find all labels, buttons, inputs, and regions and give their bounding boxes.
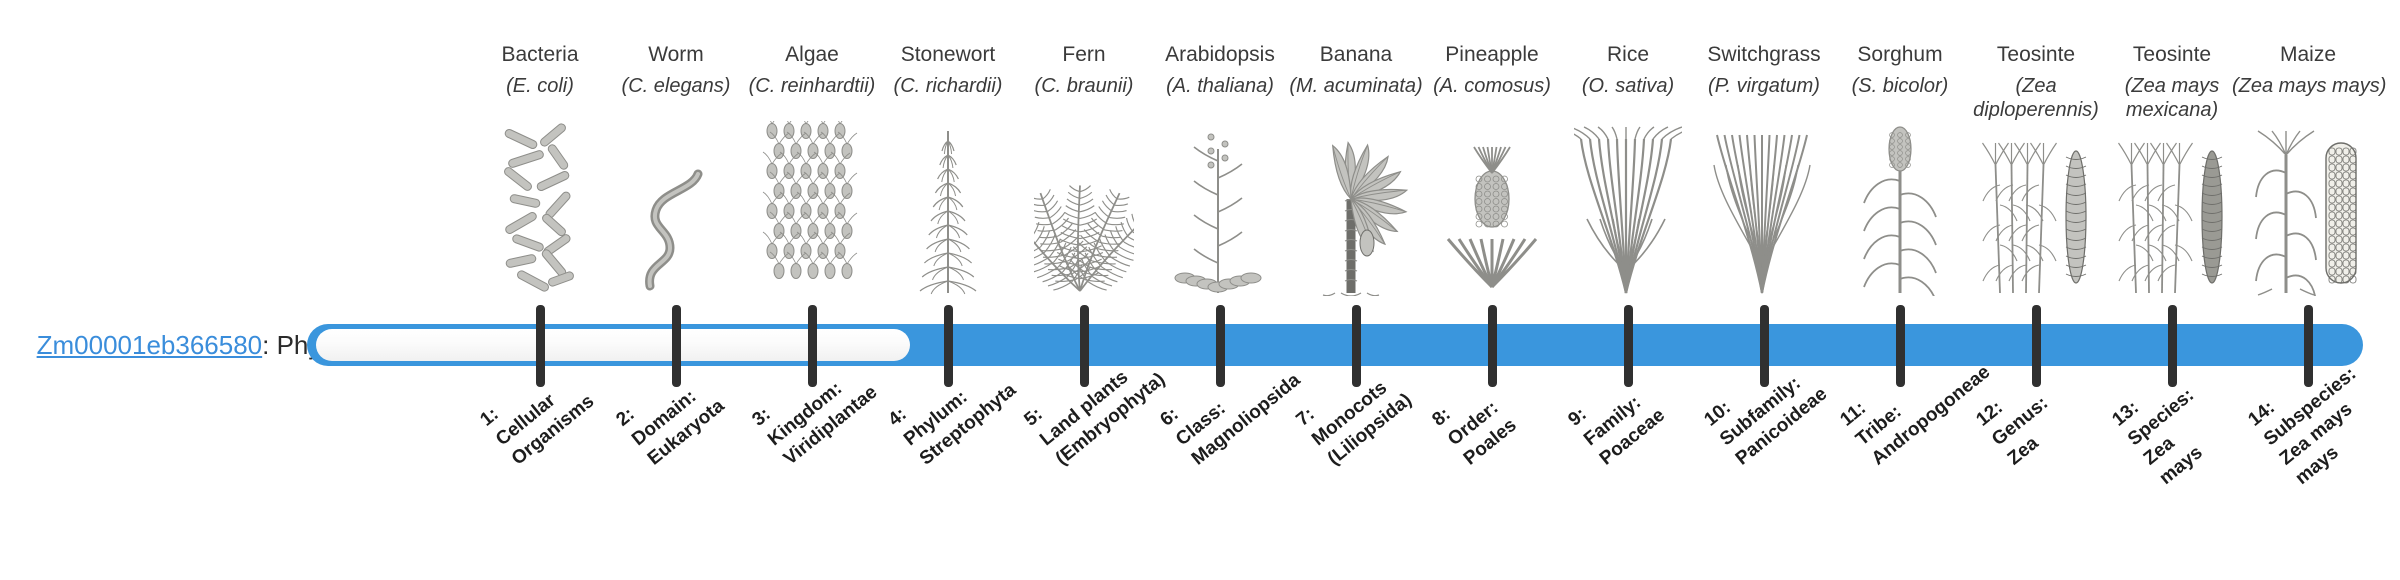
species-column-1: Bacteria(E. coli)1: Cellular Organisms: [472, 0, 608, 580]
fern-frond-illustration: [1016, 168, 1152, 296]
species-latin-name: (Zea diploperennis): [1960, 74, 2112, 122]
stonewort-alga-illustration: [880, 168, 1016, 296]
rank-label-6: 6: Class: Magnoliopsida: [1155, 327, 1308, 471]
species-column-3: Algae(C. reinhardtii)3: Kingdom: Viridip…: [744, 0, 880, 580]
rank-label-4: 4: Phylum: Streptophyta: [883, 327, 1036, 471]
species-latin-name: (M. acuminata): [1280, 74, 1432, 98]
rank-label-9: 9: Family: Poaceae: [1563, 327, 1716, 471]
rank-label-3: 3: Kingdom: Viridiplantae: [747, 327, 900, 471]
rice-plant-illustration: [1560, 168, 1696, 296]
species-latin-name: (Zea mays mexicana): [2096, 74, 2248, 122]
rank-label-12: 12: Genus: Zea: [1971, 327, 2124, 471]
arabidopsis-plant-illustration: [1152, 168, 1288, 296]
rank-label-11: 11: Tribe: Andropogoneae: [1835, 327, 1988, 471]
species-column-6: Arabidopsis(A. thaliana)6: Class: Magnol…: [1152, 0, 1288, 580]
species-latin-name: (O. sativa): [1552, 74, 1704, 98]
species-latin-name: (C. reinhardtii): [736, 74, 888, 98]
phylostratum-figure: Zm00001eb366580: Phylostratum 4 Bacteria…: [0, 0, 2400, 580]
rank-label-10: 10: Subfamily: Panicoideae: [1699, 327, 1852, 471]
sorghum-plant-illustration: [1832, 168, 1968, 296]
species-latin-name: (A. comosus): [1416, 74, 1568, 98]
species-column-2: Worm(C. elegans)2: Domain: Eukaryota: [608, 0, 744, 580]
teosinte-mexicana-illustration: [2104, 168, 2240, 296]
banana-plant-illustration: [1288, 168, 1424, 296]
species-column-12: Teosinte(Zea diploperennis)12: Genus: Ze…: [1968, 0, 2104, 580]
maize-plant-ear-illustration: [2240, 168, 2376, 296]
rank-label-8: 8: Order: Poales: [1427, 327, 1580, 471]
species-column-11: Sorghum(S. bicolor)11: Tribe: Andropogon…: [1832, 0, 1968, 580]
rank-label-2: 2: Domain: Eukaryota: [611, 327, 764, 471]
pineapple-plant-illustration: [1424, 168, 1560, 296]
bacteria-rods-illustration: [472, 168, 608, 296]
species-latin-name: (A. thaliana): [1144, 74, 1296, 98]
rank-label-5: 5: Land plants (Embryophyta): [1019, 327, 1172, 471]
rank-label-7: 7: Monocots (Liliopsida): [1291, 327, 1444, 471]
species-column-10: Switchgrass(P. virgatum)10: Subfamily: P…: [1696, 0, 1832, 580]
teosinte-diploperennis-illustration: [1968, 168, 2104, 296]
species-column-14: Maize(Zea mays mays)14: Subspecies: Zea …: [2240, 0, 2376, 580]
species-latin-name: (C. richardii): [872, 74, 1024, 98]
rank-label-1: 1: Cellular Organisms: [475, 327, 628, 471]
species-column-9: Rice(O. sativa)9: Family: Poaceae: [1560, 0, 1696, 580]
rank-label-14: 14: Subspecies: Zea mays mays: [2243, 327, 2400, 490]
switchgrass-plant-illustration: [1696, 168, 1832, 296]
species-columns: Bacteria(E. coli)1: Cellular OrganismsWo…: [470, 0, 2370, 580]
species-column-7: Banana(M. acuminata)7: Monocots (Liliops…: [1288, 0, 1424, 580]
species-latin-name: (E. coli): [464, 74, 616, 98]
species-column-8: Pineapple(A. comosus)8: Order: Poales: [1424, 0, 1560, 580]
species-latin-name: (P. virgatum): [1688, 74, 1840, 98]
species-column-13: Teosinte(Zea mays mexicana)13: Species: …: [2104, 0, 2240, 580]
gene-id-link[interactable]: Zm00001eb366580: [37, 330, 263, 360]
species-latin-name: (C. braunii): [1008, 74, 1160, 98]
species-latin-name: (Zea mays mays): [2232, 74, 2384, 98]
species-column-4: Stonewort(C. richardii)4: Phylum: Strept…: [880, 0, 1016, 580]
species-column-5: Fern(C. braunii)5: Land plants (Embryoph…: [1016, 0, 1152, 580]
species-latin-name: (S. bicolor): [1824, 74, 1976, 98]
nematode-worm-illustration: [608, 168, 744, 296]
algae-cells-illustration: [744, 168, 880, 296]
species-latin-name: (C. elegans): [600, 74, 752, 98]
species-common-name: Maize: [2228, 42, 2388, 67]
